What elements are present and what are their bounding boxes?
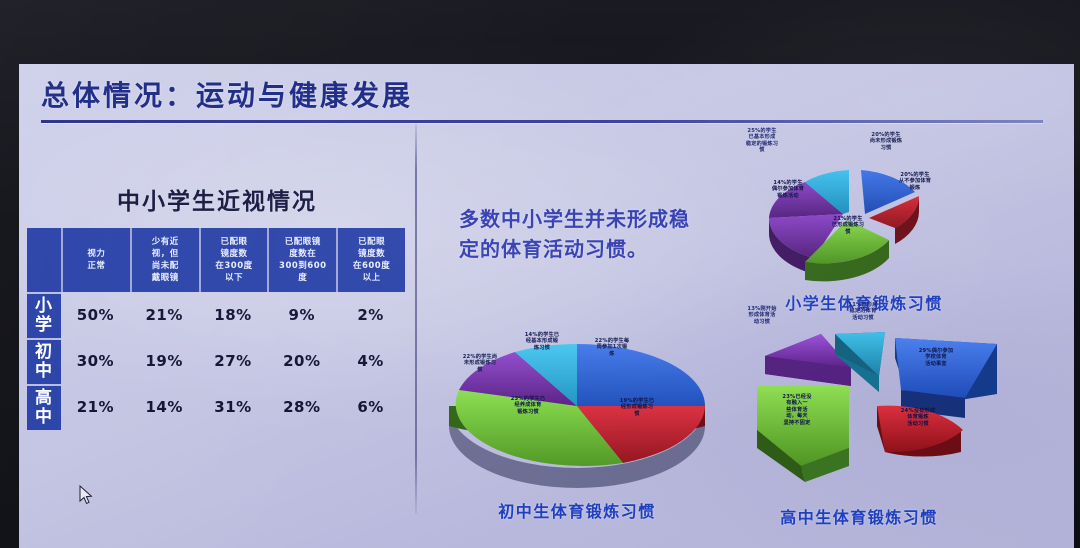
chart-primary-school: 25%的学生 已基本形成 稳定的锻炼习 惯 20%的学生 尚未形成锻炼 习惯 2…: [709, 122, 999, 322]
slice-label-junior-4: 23%的学生已 经养成体育 锻炼习惯: [493, 396, 563, 415]
chart-junior-high: 14%的学生已 经基本形成锻 炼习惯 22%的学生每 周参加1次锻 炼 19%的…: [427, 302, 727, 532]
pie-chart-senior-svg: [709, 302, 1009, 502]
chart-caption-senior: 高中生体育锻炼习惯: [709, 504, 1009, 528]
slice-label-primary-4: 21%的学生 已形成锻炼习 惯: [817, 216, 879, 235]
chart-senior-high: 13%刚开始 形成体育活 动习惯 11%已形成 稳定的体育 活动习惯 29%偶尔…: [709, 302, 1009, 532]
slice-label-primary-1: 25%的学生 已基本形成 稳定的锻炼习 惯: [731, 128, 793, 154]
cell-senior-2: 14%: [130, 384, 199, 430]
chart-caption-junior: 初中生体育锻炼习惯: [427, 498, 727, 522]
cell-junior-4: 20%: [267, 338, 336, 384]
table-header-cell-1: 视力正常: [61, 228, 130, 292]
slice-label-junior-5: 22%的学生尚 未形成锻炼习 惯: [449, 354, 511, 373]
row-label-char: 小学: [27, 297, 61, 335]
cell-junior-1: 30%: [61, 338, 130, 384]
myopia-table: 视力正常 少有近视，但尚未配戴眼镜 已配眼镜度数在300度以下 已配眼镜度数在3…: [27, 228, 405, 430]
table-row: 初中 30% 19% 27% 20% 4%: [27, 338, 405, 384]
cell-junior-2: 19%: [130, 338, 199, 384]
table-corner-cell: [27, 228, 61, 292]
vertical-divider: [415, 124, 417, 514]
myopia-table-block: 中小学生近视情况 视力正常 少有近视，但尚未配戴眼镜 已配眼镜度数在300度以下…: [27, 182, 407, 430]
cell-senior-3: 31%: [199, 384, 268, 430]
cell-junior-3: 27%: [199, 338, 268, 384]
photo-frame: 总体情况：运动与健康发展 中小学生近视情况 视力正常 少有近视，但尚未配戴眼镜 …: [0, 0, 1080, 548]
table-title: 中小学生近视情况: [27, 182, 407, 216]
table-row: 高中 21% 14% 31% 28% 6%: [27, 384, 405, 430]
slice-label-primary-3: 20%的学生 从不参加体育 锻炼: [887, 172, 943, 191]
slice-label-junior-3: 19%的学生已 经形成锻炼习 惯: [605, 398, 669, 417]
slice-label-senior-4: 24%没有形成 体育锻炼 活动习惯: [887, 408, 949, 427]
slice-label-senior-2: 11%已形成 稳定的体育 活动习惯: [833, 302, 893, 321]
row-label-senior: 高中: [27, 384, 61, 430]
table-row: 小学 50% 21% 18% 9% 2%: [27, 292, 405, 338]
cell-senior-4: 28%: [267, 384, 336, 430]
cell-primary-2: 21%: [130, 292, 199, 338]
table-header-cell-3: 已配眼镜度数在300度以下: [199, 228, 268, 292]
table-header-cell-2: 少有近视，但尚未配戴眼镜: [130, 228, 199, 292]
cell-junior-5: 4%: [336, 338, 405, 384]
row-label-char: 高中: [27, 389, 61, 427]
presentation-slide: 总体情况：运动与健康发展 中小学生近视情况 视力正常 少有近视，但尚未配戴眼镜 …: [19, 64, 1074, 548]
slide-title-bar: 总体情况：运动与健康发展: [41, 76, 1051, 124]
table-header-row: 视力正常 少有近视，但尚未配戴眼镜 已配眼镜度数在300度以下 已配眼镜度数在3…: [27, 228, 405, 292]
pie-chart-junior-svg: [427, 302, 727, 502]
slice-label-junior-1: 14%的学生已 经基本形成锻 炼习惯: [509, 332, 575, 351]
table-header-cell-4: 已配眼镜度数在300到600度: [267, 228, 336, 292]
slice-label-primary-2: 20%的学生 尚未形成锻炼 习惯: [857, 132, 915, 151]
cell-primary-1: 50%: [61, 292, 130, 338]
slice-label-junior-2: 22%的学生每 周参加1次锻 炼: [579, 338, 645, 357]
mouse-cursor-icon: [79, 485, 93, 505]
cell-primary-4: 9%: [267, 292, 336, 338]
slice-label-senior-1: 13%刚开始 形成体育活 动习惯: [731, 306, 793, 325]
page-title: 总体情况：运动与健康发展: [41, 76, 1051, 116]
slice-label-senior-3: 29%偶尔参加 学校体育 活动事宜: [905, 348, 967, 367]
cell-primary-5: 2%: [336, 292, 405, 338]
cell-senior-1: 21%: [61, 384, 130, 430]
callout-text: 多数中小学生并未形成稳定的体育活动习惯。: [459, 204, 709, 264]
cell-senior-5: 6%: [336, 384, 405, 430]
row-label-char: 初中: [27, 343, 61, 381]
table-header-cell-5: 已配眼镜度数在600度以上: [336, 228, 405, 292]
row-label-primary: 小学: [27, 292, 61, 338]
row-label-junior: 初中: [27, 338, 61, 384]
slice-label-primary-5: 14%的学生 偶尔参加体育 锻炼活动: [759, 180, 817, 199]
slice-label-senior-5: 23%已经没 有融入一 些体育活 动，每天 坚持不固定: [765, 394, 829, 426]
cell-primary-3: 18%: [199, 292, 268, 338]
